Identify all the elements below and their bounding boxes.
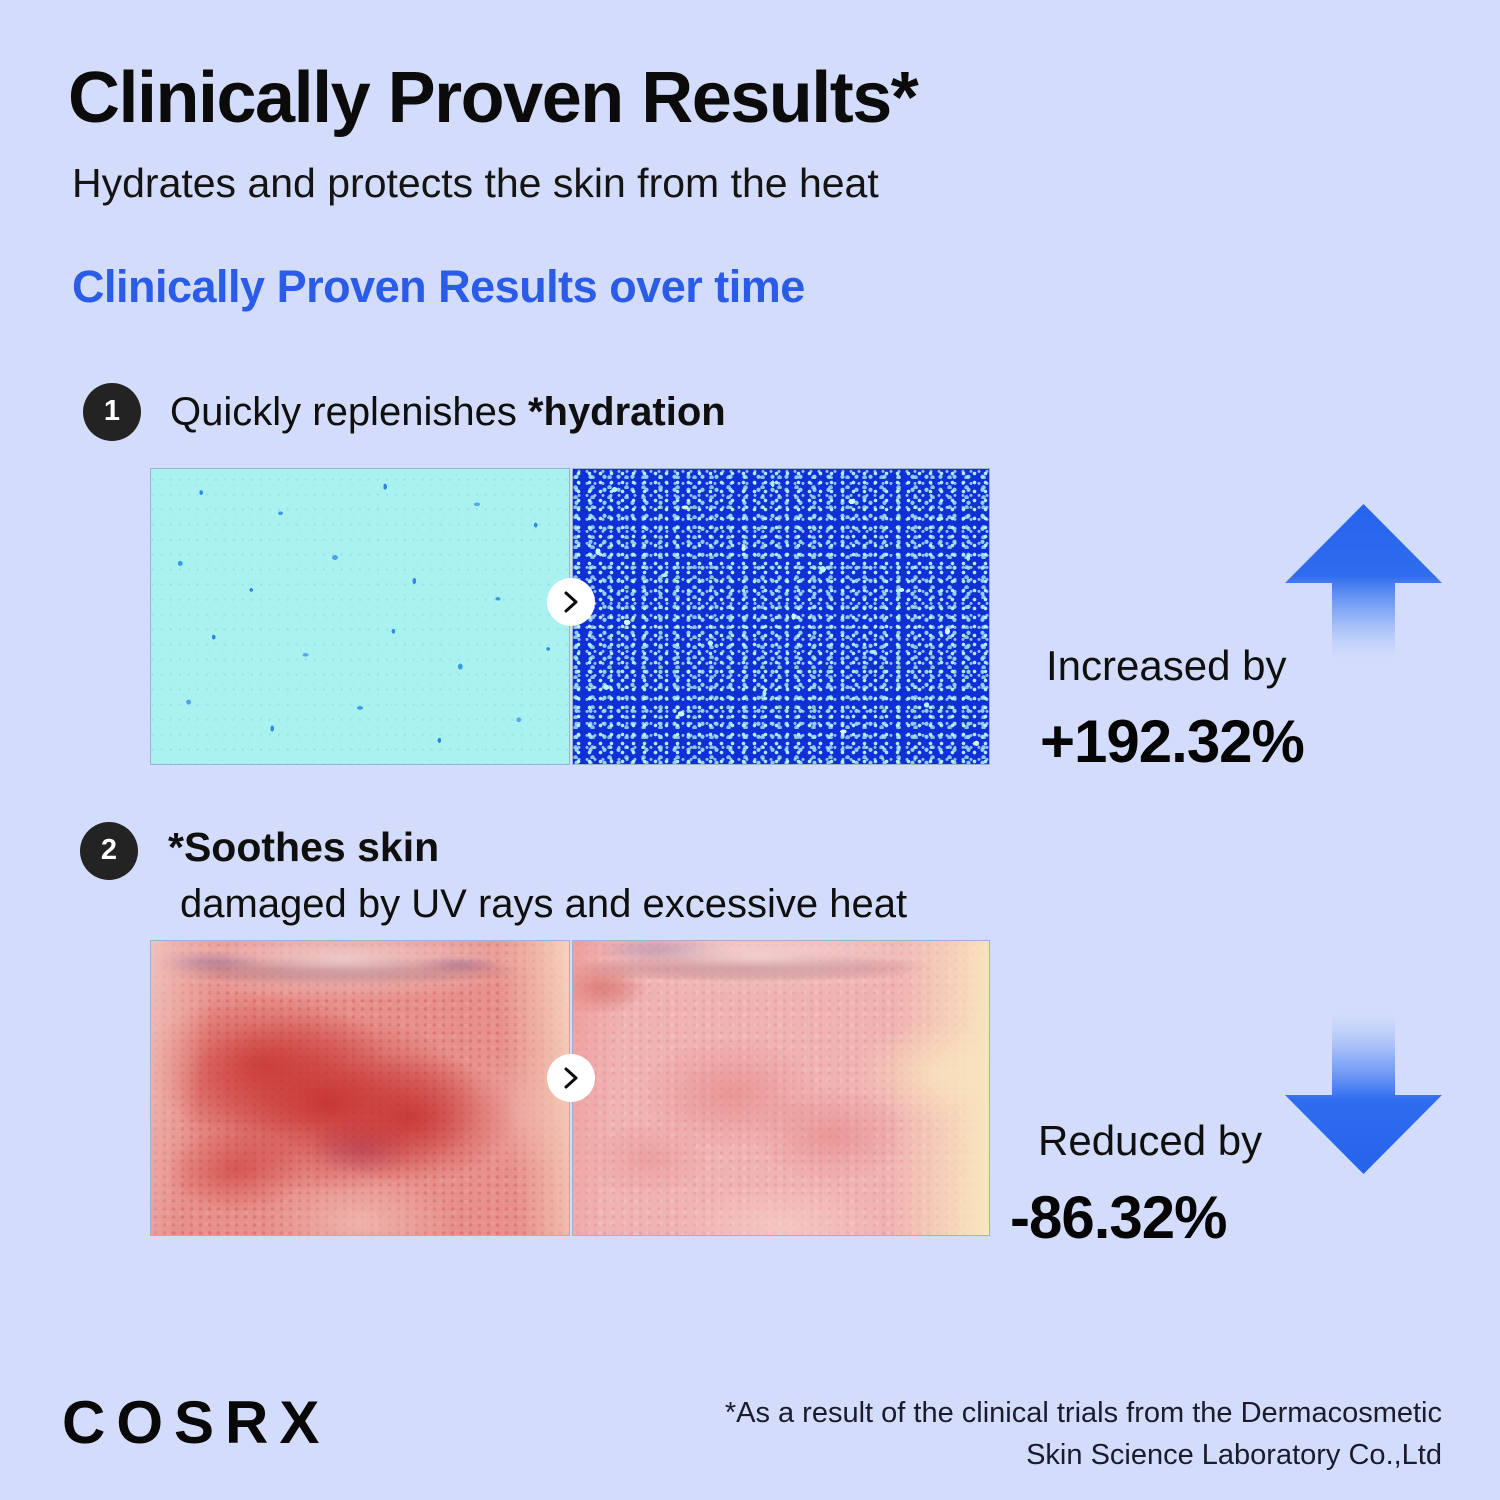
- step-2-title: *Soothes skin: [168, 827, 439, 868]
- stat-2-label: Reduced by: [1038, 1120, 1262, 1162]
- page-subtitle: Hydrates and protects the skin from the …: [72, 163, 879, 204]
- chevron-right-icon: [547, 578, 595, 626]
- step-2-subtitle: damaged by UV rays and excessive heat: [180, 884, 907, 924]
- section-heading: Clinically Proven Results over time: [72, 264, 805, 309]
- step-1-text-plain: Quickly replenishes: [170, 390, 528, 434]
- page-title: Clinically Proven Results*: [68, 62, 917, 134]
- hydration-after-image: [572, 468, 990, 765]
- cosrx-logo: COSRX: [62, 1393, 330, 1453]
- disclaimer-line-2: Skin Science Laboratory Co.,Ltd: [662, 1434, 1442, 1476]
- step-1-text: Quickly replenishes *hydration: [170, 392, 726, 432]
- arrow-down-icon: [1281, 1008, 1446, 1178]
- stat-1-label: Increased by: [1046, 645, 1286, 687]
- step-badge-2: 2: [80, 822, 138, 880]
- skin-after-image: [572, 940, 990, 1236]
- disclaimer-line-1: *As a result of the clinical trials from…: [662, 1392, 1442, 1434]
- hydration-before-image: [150, 468, 570, 765]
- infographic-root: Clinically Proven Results* Hydrates and …: [0, 0, 1500, 1500]
- stat-2-value: -86.32%: [1010, 1188, 1226, 1248]
- stat-1-value: +192.32%: [1040, 712, 1304, 772]
- hydration-after-texture: [573, 469, 989, 764]
- disclaimer-text: *As a result of the clinical trials from…: [662, 1392, 1442, 1477]
- arrow-up-icon: [1281, 500, 1446, 660]
- step-1-text-bold: *hydration: [528, 390, 726, 434]
- hydration-before-texture: [151, 469, 569, 764]
- skin-after-texture: [573, 941, 989, 1235]
- step-badge-1: 1: [83, 383, 141, 441]
- skin-before-image: [150, 940, 570, 1236]
- skin-before-texture: [151, 941, 569, 1235]
- chevron-right-icon-2: [547, 1054, 595, 1102]
